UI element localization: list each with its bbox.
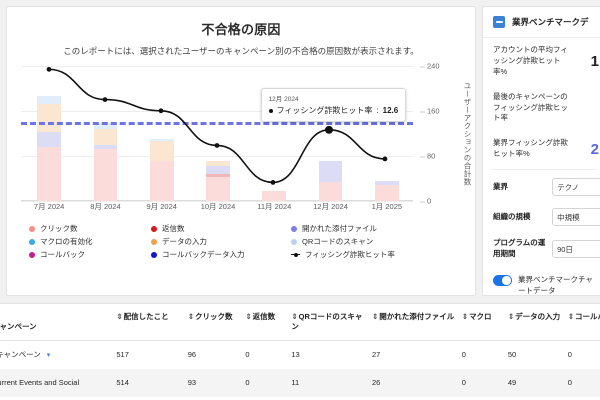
tooltip-dot-icon	[269, 109, 273, 113]
tooltip-series-label: フィッシング詐欺ヒット率	[277, 105, 373, 116]
table-row[interactable]: Current Events and Social514930112604900…	[0, 369, 600, 397]
field-label: 組織の規模	[493, 212, 547, 223]
table-cell: 517	[116, 341, 187, 370]
column-label: マクロ	[469, 312, 492, 321]
table-header-sortable[interactable]: ⇕マクロ	[462, 304, 508, 341]
legend-line-marker-icon	[291, 252, 300, 258]
y-tick-mark	[420, 201, 425, 202]
line-data-point[interactable]	[159, 108, 164, 113]
field-label: 業界	[493, 182, 547, 193]
tooltip-date: 12月 2024	[269, 93, 399, 103]
cell-value: 0	[462, 378, 466, 387]
cell-value: 26	[372, 378, 380, 387]
cell-value: 2キャンペーン	[0, 350, 41, 359]
legend-item[interactable]: データの入力	[151, 235, 291, 248]
cell-value: 0	[568, 378, 572, 387]
line-data-point[interactable]	[383, 157, 388, 162]
metric-row: 最後のキャンペーンのフィッシング詐欺ヒット率	[483, 85, 600, 132]
table-cell: 11	[291, 369, 372, 397]
industry-benchmark-panel: 業界ベンチマークデ アカウントの平均フィッシング詐欺ヒット率%1最後のキャンペー…	[482, 6, 600, 296]
sort-icon[interactable]: ⇕	[568, 312, 574, 321]
sort-icon[interactable]: ⇕	[291, 312, 297, 321]
table-cell: 50	[508, 341, 568, 370]
table-cell: 0	[462, 341, 508, 370]
cell-value: 0	[568, 350, 572, 359]
tooltip-value: 12.6	[383, 106, 399, 115]
metric-label: 業界フィッシング詐欺ヒット率%	[493, 138, 571, 160]
legend-color-dot-icon	[291, 239, 297, 245]
table-header-sortable[interactable]: ⇕開かれた添付ファイル	[372, 304, 462, 341]
cell-value: 514	[116, 378, 129, 387]
table-header-sortable[interactable]: ⇕クリック数	[188, 304, 246, 341]
legend-item[interactable]: 返信数	[151, 222, 291, 235]
sort-icon[interactable]: ⇕	[508, 312, 514, 321]
sort-icon[interactable]: ⇕	[245, 312, 251, 321]
benchmark-chart-toggle-label: 業界ベンチマークチャートデータ	[518, 274, 597, 296]
table-cell: 13	[291, 341, 372, 370]
chart-legend: クリック数返信数開かれた添付ファイルマクロの有効化データの入力QRコードのスキャ…	[29, 222, 475, 261]
filter-field: 組織の規模中規模	[483, 202, 600, 232]
legend-color-dot-icon	[151, 239, 157, 245]
table-header-sortable[interactable]: ⇕返信数	[245, 304, 291, 341]
table-cell: 49	[508, 369, 568, 397]
table-header-sortable[interactable]: ⇕QRコードのスキャン	[291, 304, 372, 341]
cell-value: 517	[116, 350, 129, 359]
failure-reasons-chart-card: 不合格の原因 このレポートには、選択されたユーザーのキャンペーン別の不合格の原因…	[6, 6, 476, 296]
cell-value: 0	[245, 378, 249, 387]
cell-value: Current Events and Social	[0, 378, 79, 387]
legend-label: コールバックデータ入力	[162, 249, 245, 260]
chart-tooltip: 12月 2024フィッシング詐欺ヒット率:12.6	[261, 88, 407, 122]
table-cell: 26	[372, 369, 462, 397]
legend-label: クリック数	[40, 223, 78, 234]
line-data-point[interactable]	[325, 126, 333, 134]
column-label: 返信数	[253, 312, 276, 321]
field-label: プログラムの運用期間	[493, 238, 547, 260]
field-select[interactable]: テクノ	[552, 178, 600, 196]
filter-field: プログラムの運用期間90日	[483, 232, 600, 266]
legend-color-dot-icon	[29, 226, 35, 232]
table-header-campaign[interactable]: キャンペーン	[0, 304, 116, 341]
metric-value: 1	[591, 53, 599, 70]
table-cell: 0	[245, 369, 291, 397]
line-data-point[interactable]	[47, 67, 52, 72]
chevron-down-icon[interactable]: ▾	[47, 352, 51, 359]
metric-value: 2	[591, 141, 599, 158]
benchmark-chart-toggle[interactable]	[493, 275, 512, 286]
line-data-point[interactable]	[103, 97, 108, 102]
legend-label: フィッシング詐欺ヒット率	[305, 249, 395, 260]
column-label: 配信したこと	[124, 312, 169, 321]
metric-row: 業界フィッシング詐欺ヒット率%2	[483, 131, 600, 167]
column-label: キャンペーン	[0, 322, 37, 331]
table-cell: 0	[568, 369, 600, 397]
table-cell-campaign[interactable]: Current Events and Social	[0, 369, 116, 397]
table-head: キャンペーン⇕配信したこと⇕クリック数⇕返信数⇕QRコードのスキャン⇕開かれた添…	[0, 304, 600, 341]
legend-label: QRコードのスキャン	[302, 236, 373, 247]
legend-color-dot-icon	[29, 239, 35, 245]
column-label: コールバック	[575, 312, 600, 321]
filter-field-list: 業界テクノ組織の規模中規模プログラムの運用期間90日	[483, 172, 600, 266]
column-label: データの入力	[515, 312, 560, 321]
table-cell: 96	[188, 341, 246, 370]
campaign-table-card[interactable]: キャンペーン⇕配信したこと⇕クリック数⇕返信数⇕QRコードのスキャン⇕開かれた添…	[0, 303, 600, 400]
metric-row: アカウントの平均フィッシング詐欺ヒット率%1	[483, 38, 600, 85]
legend-label: 開かれた添付ファイル	[302, 223, 377, 234]
metric-list: アカウントの平均フィッシング詐欺ヒット率%1最後のキャンペーンのフィッシング詐欺…	[483, 38, 600, 167]
legend-item[interactable]: QRコードのスキャン	[291, 235, 475, 248]
legend-label: コールバック	[40, 249, 85, 260]
cell-value: 11	[291, 378, 299, 387]
panel-title: 業界ベンチマークデ	[512, 16, 589, 28]
legend-color-dot-icon	[151, 226, 157, 232]
tooltip-separator: :	[376, 106, 378, 115]
legend-item-line[interactable]: フィッシング詐欺ヒット率	[291, 248, 475, 261]
table-row[interactable]: 2キャンペーン▾5179601327050003	[0, 341, 600, 370]
legend-label: マクロの有効化	[40, 236, 93, 247]
column-label: QRコードのスキャン	[291, 312, 362, 331]
legend-label: データの入力	[162, 236, 207, 247]
cell-value: 96	[188, 350, 196, 359]
metric-label: アカウントの平均フィッシング詐欺ヒット率%	[493, 45, 571, 78]
metric-label: 最後のキャンペーンのフィッシング詐欺ヒット率	[493, 92, 571, 125]
sort-icon[interactable]: ⇕	[462, 312, 468, 321]
legend-item[interactable]: マクロの有効化	[29, 235, 151, 248]
legend-color-dot-icon	[29, 252, 35, 258]
x-axis-tick-label: 9月 2024	[146, 201, 176, 212]
legend-label: 返信数	[162, 223, 185, 234]
cell-value: 93	[188, 378, 196, 387]
field-select[interactable]: 90日	[552, 240, 600, 258]
table-header-sortable[interactable]: ⇕コールバック	[568, 304, 600, 341]
line-data-point[interactable]	[215, 143, 220, 148]
legend-color-dot-icon	[151, 252, 157, 258]
cell-value: 27	[372, 350, 380, 359]
y-axis-title: ユーザーアクションの合計数	[462, 82, 473, 186]
y-axis: ユーザーアクションの合計数	[413, 66, 475, 201]
campaign-table: キャンペーン⇕配信したこと⇕クリック数⇕返信数⇕QRコードのスキャン⇕開かれた添…	[0, 304, 600, 397]
table-header-row: キャンペーン⇕配信したこと⇕クリック数⇕返信数⇕QRコードのスキャン⇕開かれた添…	[0, 304, 600, 341]
line-data-point[interactable]	[271, 180, 276, 185]
column-label: クリック数	[195, 312, 233, 321]
legend-item[interactable]: 開かれた添付ファイル	[291, 222, 475, 235]
legend-item[interactable]: コールバックデータ入力	[151, 248, 291, 261]
chart-subtitle: このレポートには、選択されたユーザーのキャンペーン別の不合格の原因数が表示されま…	[7, 45, 475, 57]
x-axis-tick-label: 7月 2024	[34, 201, 64, 212]
table-cell: 93	[188, 369, 246, 397]
table-cell: 0	[462, 369, 508, 397]
tooltip-row: フィッシング詐欺ヒット率:12.6	[269, 105, 399, 116]
column-label: 開かれた添付ファイル	[379, 312, 454, 321]
table-header-sortable[interactable]: ⇕データの入力	[508, 304, 568, 341]
cell-value: 0	[245, 350, 249, 359]
table-header-sortable[interactable]: ⇕配信したこと	[116, 304, 187, 341]
app-root: 不合格の原因 このレポートには、選択されたユーザーのキャンペーン別の不合格の原因…	[0, 0, 600, 400]
sort-icon[interactable]: ⇕	[116, 312, 122, 321]
field-select[interactable]: 中規模	[552, 208, 600, 226]
cell-value: 50	[508, 350, 516, 359]
panel-header[interactable]: 業界ベンチマークデ	[483, 7, 600, 38]
minus-square-icon[interactable]	[493, 16, 505, 28]
legend-item[interactable]: クリック数	[29, 222, 151, 235]
x-axis-tick-label: 10月 2024	[201, 201, 236, 212]
cell-value: 0	[462, 350, 466, 359]
phishing-hit-rate-line	[21, 66, 413, 200]
table-cell: 514	[116, 369, 187, 397]
plot-canvas: 08016024012月 2024フィッシング詐欺ヒット率:12.6	[21, 66, 413, 201]
table-cell-campaign[interactable]: 2キャンペーン▾	[0, 341, 116, 370]
table-body: 2キャンペーン▾5179601327050003Current Events a…	[0, 341, 600, 397]
plot-area: 08016024012月 2024フィッシング詐欺ヒット率:12.6 ユーザーア…	[7, 66, 475, 201]
page-title: 不合格の原因	[7, 19, 475, 38]
x-axis-labels: 7月 20248月 20249月 202410月 202411月 202412月…	[21, 201, 413, 215]
filter-field: 業界テクノ	[483, 172, 600, 202]
x-axis-tick-label: 11月 2024	[257, 201, 291, 212]
panel-divider	[491, 169, 597, 170]
benchmark-chart-toggle-row[interactable]: 業界ベンチマークチャートデータ	[483, 266, 600, 296]
sort-icon[interactable]: ⇕	[188, 312, 194, 321]
sort-icon[interactable]: ⇕	[372, 312, 378, 321]
legend-color-dot-icon	[291, 226, 297, 232]
x-axis-tick-label: 12月 2024	[313, 201, 348, 212]
cell-value: 13	[291, 350, 299, 359]
legend-item[interactable]: コールバック	[29, 248, 151, 261]
table-cell: 27	[372, 341, 462, 370]
x-axis-tick-label: 8月 2024	[90, 201, 120, 212]
table-cell: 0	[568, 341, 600, 370]
cell-value: 49	[508, 378, 516, 387]
table-cell: 0	[245, 341, 291, 370]
x-axis-tick-label: 1月 2025	[372, 201, 402, 212]
